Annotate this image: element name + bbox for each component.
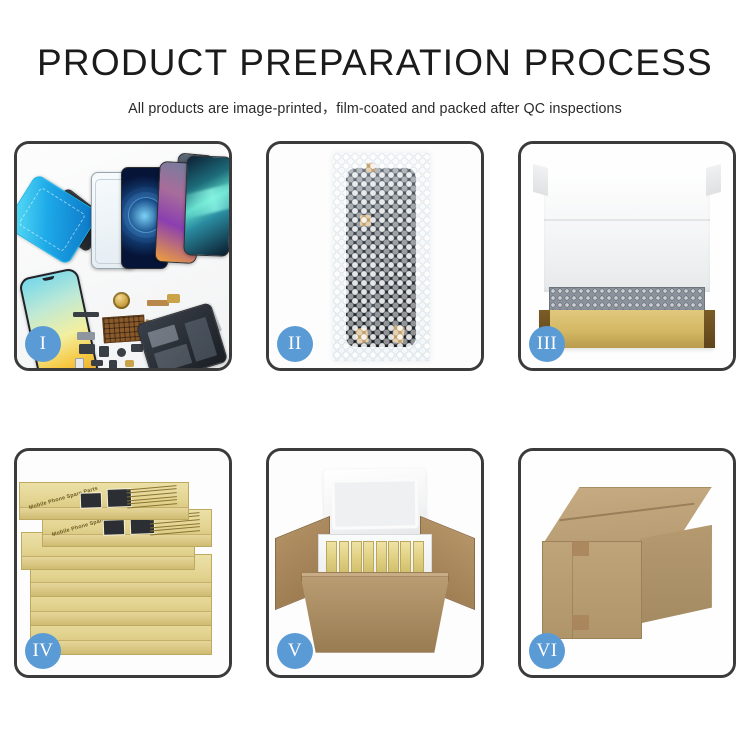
tape-strip [572, 541, 589, 557]
gold-contact-part [167, 294, 180, 303]
header: PRODUCT PREPARATION PROCESS All products… [0, 0, 750, 118]
page-title: PRODUCT PREPARATION PROCESS [0, 0, 750, 81]
kraft-box-tray [540, 310, 714, 348]
carton-front-face [542, 541, 642, 640]
tape-strip [572, 615, 589, 631]
small-part [125, 360, 134, 367]
label-product-image [80, 492, 102, 509]
small-part [73, 312, 99, 317]
step-card-6: VI [518, 448, 736, 678]
carton-body [301, 576, 449, 652]
label-product-image [103, 519, 125, 536]
box-label: Mobile Phone Spare Parts [20, 480, 189, 522]
foam-box-lid [323, 468, 426, 541]
lid-fold-line [544, 219, 709, 221]
step-card-2: II [266, 141, 484, 371]
small-part [75, 358, 84, 371]
adhesive-film-sheet [14, 173, 100, 265]
stacked-box-labelled: Mobile Phone Spare Parts [19, 482, 189, 520]
step-card-1: I [14, 141, 232, 371]
small-part [99, 346, 109, 357]
step-badge-2: II [277, 326, 313, 362]
step-card-3: III [518, 141, 736, 371]
small-part [79, 344, 95, 354]
step-badge-3: III [529, 326, 565, 362]
teal-wave-phone [183, 155, 232, 257]
product-preparation-infographic: PRODUCT PREPARATION PROCESS All products… [0, 0, 750, 750]
white-box-lid [544, 166, 709, 291]
step-badge-1: I [25, 326, 61, 362]
step-badge-5: V [277, 633, 313, 669]
step-badge-6: VI [529, 633, 565, 669]
page-subtitle: All products are image-printed，film-coat… [0, 81, 750, 118]
label-spec-lines [127, 487, 178, 506]
small-part [77, 332, 95, 340]
step-badge-4: IV [25, 633, 61, 669]
speaker-module-icon [113, 292, 130, 309]
step-card-5: V [266, 448, 484, 678]
step-card-4: Mobile Phone Spare Parts Mobile Phone [14, 448, 232, 678]
small-part [117, 348, 126, 357]
bubble-texture [333, 153, 431, 361]
process-steps-grid: I II [14, 141, 736, 678]
bubble-wrap-bag [333, 153, 431, 361]
small-part [109, 360, 117, 369]
carton-side-face [640, 525, 712, 624]
flex-cable-part [147, 300, 169, 306]
small-part [91, 360, 103, 366]
